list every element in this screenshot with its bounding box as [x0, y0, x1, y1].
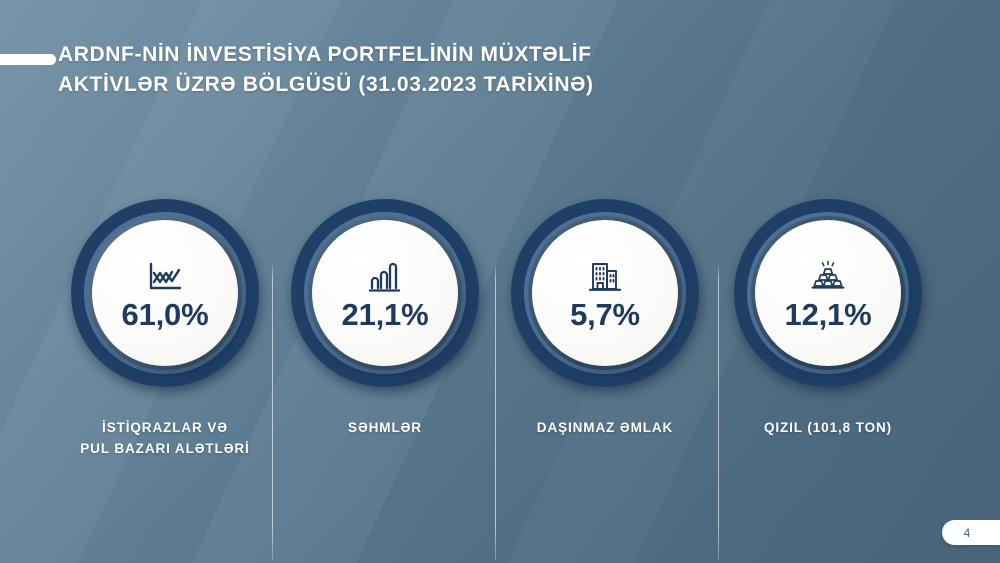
slide-canvas: ARDNF-NİN İNVESTİSİYA PORTFELİNİN MÜXTƏL… — [0, 0, 1000, 563]
segment-istiqrazlar[interactable]: 61,0% İSTİQRAZLAR VƏ PUL BAZARI ALƏTLƏRİ — [55, 0, 275, 563]
segment-value: 61,0% — [122, 299, 209, 330]
value-disc: 12,1% — [755, 220, 901, 366]
value-disc: 5,7% — [532, 220, 678, 366]
segment-value: 21,1% — [342, 299, 429, 330]
segment-dasinmaz-emlak[interactable]: 5,7% DAŞINMAZ ƏMLAK — [495, 0, 715, 563]
segment-label: SƏHMLƏR — [275, 418, 495, 439]
donut-ring-4: 12,1% — [734, 199, 922, 387]
value-disc: 61,0% — [92, 220, 238, 366]
segment-qizil[interactable]: 12,1% QIZIL (101,8 TON) — [718, 0, 938, 563]
segment-label: QIZIL (101,8 TON) — [718, 418, 938, 439]
page-number: 4 — [964, 526, 971, 540]
gold-bars-icon — [806, 257, 850, 297]
donut-ring-3: 5,7% — [511, 199, 699, 387]
value-disc: 21,1% — [312, 220, 458, 366]
segments-container: 61,0% İSTİQRAZLAR VƏ PUL BAZARI ALƏTLƏRİ — [0, 0, 1000, 563]
segment-label: İSTİQRAZLAR VƏ PUL BAZARI ALƏTLƏRİ — [55, 418, 275, 460]
segment-value: 5,7% — [570, 299, 640, 330]
segment-sehmler[interactable]: 21,1% SƏHMLƏR — [275, 0, 495, 563]
donut-ring-1: 61,0% — [71, 199, 259, 387]
bar-chart-icon — [363, 257, 407, 297]
segment-value: 12,1% — [785, 299, 872, 330]
segment-label: DAŞINMAZ ƏMLAK — [495, 418, 715, 439]
building-icon — [583, 257, 627, 297]
line-chart-icon — [143, 257, 187, 297]
page-number-pill: 4 — [942, 520, 1000, 545]
donut-ring-2: 21,1% — [291, 199, 479, 387]
column-divider-1 — [272, 262, 273, 560]
